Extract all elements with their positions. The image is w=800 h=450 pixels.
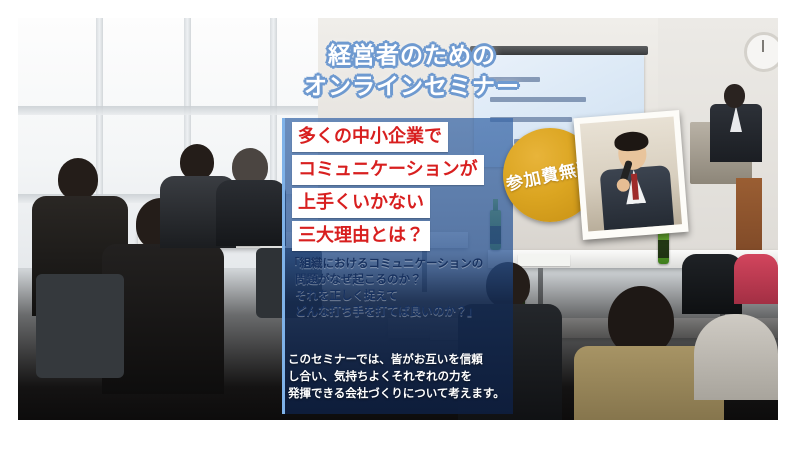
headline-band: コミュニケーションが bbox=[292, 155, 484, 185]
headline-band: 上手くいかない bbox=[292, 188, 430, 218]
presenter-head bbox=[724, 84, 745, 108]
attendee-body bbox=[694, 314, 778, 400]
attendee-body bbox=[734, 254, 778, 304]
title-line-2: オンラインセミナー bbox=[292, 71, 532, 102]
closing-line: 発揮できる会社づくりについて考えます。 bbox=[288, 386, 506, 403]
quote-line: 問題がなぜ起こるのか？ bbox=[288, 272, 506, 288]
bottom-white-margin bbox=[0, 420, 800, 450]
headline-band: 多くの中小企業で bbox=[292, 122, 448, 152]
attendee-body bbox=[216, 180, 286, 246]
speaker-inset-image bbox=[580, 116, 682, 231]
quote-line: それを正しく捉えて bbox=[288, 288, 506, 304]
chair bbox=[36, 274, 124, 378]
title-line-1: 経営者のための bbox=[292, 40, 532, 71]
handout-paper bbox=[518, 254, 570, 266]
attendee-head bbox=[58, 158, 98, 200]
seminar-poster: 経営者のための オンラインセミナー 多くの中小企業で コミュニケーションが 上手… bbox=[0, 0, 800, 450]
speaker-inset-photo bbox=[573, 110, 688, 240]
quote-block: 「組織におけるコミュニケーションの 問題がなぜ起こるのか？ それを正しく捉えて … bbox=[288, 256, 506, 320]
quote-line: どんな打ち手を打てば良いのか？」 bbox=[288, 304, 506, 320]
wall-clock-icon bbox=[744, 32, 778, 72]
closing-line: このセミナーでは、皆がお互いを信頼 bbox=[288, 352, 506, 369]
closing-line: し合い、気持ちよくそれぞれの力を bbox=[288, 369, 506, 386]
closing-block: このセミナーでは、皆がお互いを信頼 し合い、気持ちよくそれぞれの力を 発揮できる… bbox=[288, 352, 506, 403]
headline-band: 三大理由とは？ bbox=[292, 221, 430, 251]
headline-band-group: 多くの中小企業で コミュニケーションが 上手くいかない 三大理由とは？ bbox=[292, 122, 518, 254]
poster-title: 経営者のための オンラインセミナー bbox=[292, 40, 532, 102]
attendee-head bbox=[180, 144, 214, 180]
attendee-body bbox=[682, 254, 742, 314]
quote-line: 「組織におけるコミュニケーションの bbox=[288, 256, 506, 272]
window-sill bbox=[18, 106, 318, 115]
